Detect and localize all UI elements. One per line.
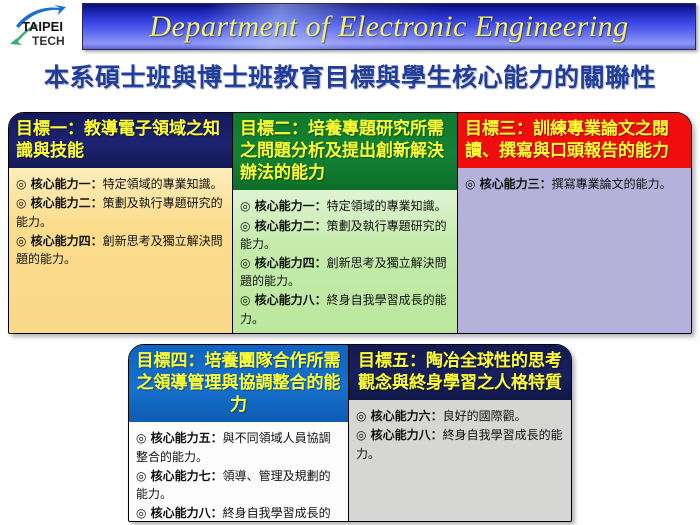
ability-label: ◎ 核心能力一： [240,199,327,213]
ability-label: ◎ 核心能力一： [16,177,103,191]
ability-item: ◎ 核心能力七：領導、管理及規劃的能力。 [136,467,342,503]
logo-mark-icon: TAIPEI TECH [6,4,78,50]
ability-label: ◎ 核心能力二： [240,219,327,233]
goal-1-header: 目標一：教導電子領域之知識與技能 [9,113,232,168]
ability-text: 特定領域的專業知識。 [103,177,223,191]
goal-4-header: 目標四：培養團隊合作所需之領導管理與協調整合的能力 [129,345,348,422]
ability-item: ◎ 核心能力一：特定領域的專業知識。 [240,197,451,215]
goal-card-5: 目標五：陶冶全球性的思考觀念與終身學習之人格特質 ◎ 核心能力六：良好的國際觀。… [349,344,572,522]
ability-item: ◎ 核心能力六：良好的國際觀。 [356,407,565,425]
goal-card-3: 目標三：訓練專業論文之閱讀、撰寫與口頭報告的能力 ◎ 核心能力三：撰寫專業論文的… [458,112,692,334]
ability-item: ◎ 核心能力三：撰寫專業論文的能力。 [465,175,685,193]
ability-label: ◎ 核心能力八： [240,293,327,307]
goal-2-body: ◎ 核心能力一：特定領域的專業知識。 ◎ 核心能力二：策劃及執行專題研究的能力。… [233,190,457,334]
goal-card-2: 目標二：培養專題研究所需之問題分析及提出創新解決辦法的能力 ◎ 核心能力一：特定… [233,112,458,334]
logo-text-tech: TECH [32,34,65,48]
goal-4-body: ◎ 核心能力五：與不同領域人員協調整合的能力。 ◎ 核心能力七：領導、管理及規劃… [129,422,348,522]
goal-row-top: 目標一：教導電子領域之知識與技能 ◎ 核心能力一：特定領域的專業知識。 ◎ 核心… [8,112,692,334]
banner-row: TAIPEI TECH Department of Electronic Eng… [0,0,700,52]
ability-label: ◎ 核心能力七： [136,469,223,483]
ability-item: ◎ 核心能力五：與不同領域人員協調整合的能力。 [136,429,342,465]
goal-5-header: 目標五：陶冶全球性的思考觀念與終身學習之人格特質 [349,345,571,400]
goal-5-body: ◎ 核心能力六：良好的國際觀。 ◎ 核心能力八：終身自我學習成長的能力。 [349,400,571,521]
ability-item: ◎ 核心能力八：終身自我學習成長的能力。 [240,291,451,327]
goal-card-4: 目標四：培養團隊合作所需之領導管理與協調整合的能力 ◎ 核心能力五：與不同領域人… [128,344,349,522]
ability-label: ◎ 核心能力六： [356,409,443,423]
ability-label: ◎ 核心能力八： [136,506,223,520]
ability-label: ◎ 核心能力四： [240,256,327,270]
banner-title: Department of Electronic Engineering [149,10,628,44]
ability-item: ◎ 核心能力一：特定領域的專業知識。 [16,175,226,193]
ability-label: ◎ 核心能力二： [16,196,103,210]
ability-text: 特定領域的專業知識。 [327,199,447,213]
ability-item: ◎ 核心能力二：策劃及執行專題研究的能力。 [240,217,451,253]
ability-item: ◎ 核心能力八：終身自我學習成長的能力。 [136,504,342,522]
goal-card-1: 目標一：教導電子領域之知識與技能 ◎ 核心能力一：特定領域的專業知識。 ◎ 核心… [8,112,233,334]
ability-label: ◎ 核心能力八： [356,428,443,442]
ability-item: ◎ 核心能力八：終身自我學習成長的能力。 [356,426,565,462]
goal-2-header: 目標二：培養專題研究所需之問題分析及提出創新解決辦法的能力 [233,113,457,190]
logo-text-taipei: TAIPEI [22,19,63,34]
page-title: 本系碩士班與博士班教育目標與學生核心能力的關聯性 [0,58,700,94]
ability-label: ◎ 核心能力五： [136,431,223,445]
taipei-tech-logo: TAIPEI TECH [6,4,78,50]
ability-item: ◎ 核心能力四：創新思考及獨立解決問題的能力。 [240,254,451,290]
ability-label: ◎ 核心能力四： [16,234,103,248]
goal-1-body: ◎ 核心能力一：特定領域的專業知識。 ◎ 核心能力二：策劃及執行專題研究的能力。… [9,168,232,333]
goal-row-bottom: 目標四：培養團隊合作所需之領導管理與協調整合的能力 ◎ 核心能力五：與不同領域人… [128,344,572,522]
ability-text: 撰寫專業論文的能力。 [552,177,672,191]
goal-3-body: ◎ 核心能力三：撰寫專業論文的能力。 [458,168,691,333]
ability-item: ◎ 核心能力二：策劃及執行專題研究的能力。 [16,194,226,230]
department-banner: Department of Electronic Engineering [82,3,696,50]
ability-item: ◎ 核心能力四：創新思考及獨立解決問題的能力。 [16,232,226,268]
ability-text: 良好的國際觀。 [443,409,527,423]
ability-label: ◎ 核心能力三： [465,177,552,191]
goal-3-header: 目標三：訓練專業論文之閱讀、撰寫與口頭報告的能力 [458,113,691,168]
